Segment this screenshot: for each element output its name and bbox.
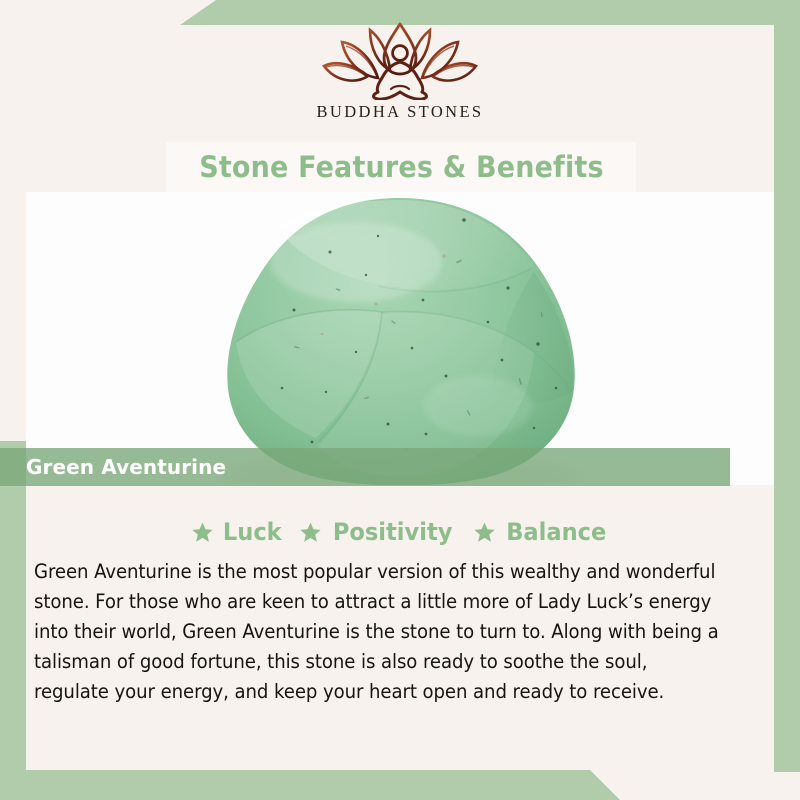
brand-name: BUDDHA STONES: [316, 102, 483, 122]
page-title: Stone Features & Benefits: [199, 150, 604, 184]
benefit-label: Positivity: [333, 518, 453, 546]
benefit-label: Balance: [506, 518, 606, 546]
benefits-row: Luck Positivity Balance: [26, 518, 774, 546]
lotus-meditation-icon: [316, 22, 484, 100]
frame-bottom-bar: [0, 770, 800, 800]
benefit-label: Luck: [223, 518, 282, 546]
stone-name-band: Green Aventurine: [0, 448, 730, 486]
stone-description: Green Aventurine is the most popular ver…: [34, 557, 720, 707]
infographic-page: BUDDHA STONES Stone Features & Benefits: [0, 0, 800, 800]
stone-name: Green Aventurine: [26, 455, 226, 479]
star-icon: [299, 521, 322, 544]
benefit-item-balance: Balance: [473, 518, 610, 546]
stone-photo: [26, 192, 774, 485]
title-banner: Stone Features & Benefits: [166, 142, 636, 192]
benefit-item-positivity: Positivity: [299, 518, 456, 546]
brand-logo: BUDDHA STONES: [0, 0, 800, 140]
frame-left-bar: [0, 441, 26, 800]
green-aventurine-stone-image: [26, 192, 774, 485]
star-icon: [473, 521, 496, 544]
star-icon: [191, 521, 214, 544]
benefit-item-luck: Luck: [191, 518, 284, 546]
